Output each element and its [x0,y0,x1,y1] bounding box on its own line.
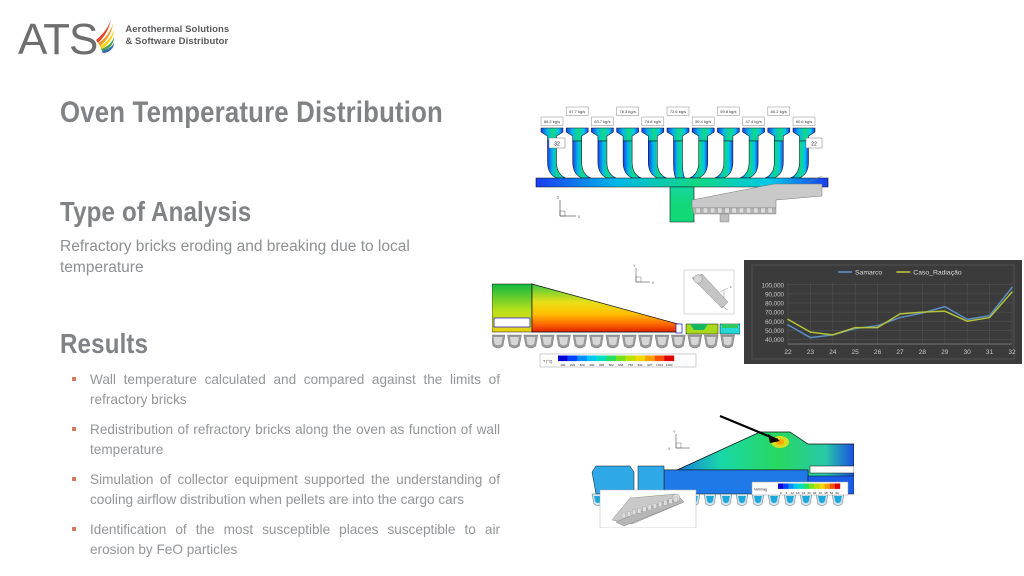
legend-swatch [664,356,674,362]
axis-corner [636,277,641,282]
nozzle [642,128,664,141]
list-item-text: Simulation of collector equipment suppor… [90,472,500,507]
cad-hopper [746,208,750,213]
section-results: Results Wall temperature calculated and … [60,328,480,559]
legend-swatch [830,484,835,489]
list-item-text: Redistribution of refractory bricks alon… [90,422,500,457]
legend-label: Samarco [855,269,882,276]
kiln-body-fill [532,284,678,332]
legend-label: Caso_Radiação [913,269,962,276]
cad-hopper [632,510,635,515]
duct-inner-wall [810,466,854,473]
axis-triad: YX [633,264,655,285]
cargo-car-inner [641,337,650,345]
flow-label-text: 66.2 kg/s [544,119,560,124]
branch-pipe [598,141,616,178]
cargo-car-row [492,335,735,348]
logo-tagline: Aerothermal Solutions & Software Distrib… [125,24,229,48]
cargo-car-inner [707,337,716,345]
cad-hopper [696,208,700,213]
branch-pipe [740,141,758,178]
legend-swatch [606,356,616,362]
list-item: Redistribution of refractory bricks alon… [60,420,500,459]
legend-tick: 24 [802,491,806,495]
cargo-car-inner [526,337,535,345]
x-tick-label: 32 [1008,349,1016,356]
legend-swatch [809,484,814,489]
cad-hopper [627,511,630,516]
cad-hopper [710,208,714,213]
cargo-car-inner [608,337,617,345]
legend-swatch [655,356,665,362]
cargo-car-inner [559,337,568,345]
chart-y-axis-labels: 100,00090,00080,00070,00060,00050,00040,… [762,282,785,344]
legend-tick: 495 [599,363,604,367]
nozzle [768,128,790,141]
nozzle [667,128,689,141]
list-item: Simulation of collector equipment suppor… [60,470,500,509]
flow-label-text: 59.4 kg/s [695,119,711,124]
cad-hopper [674,497,677,502]
y-tick-label: 80,000 [765,301,784,308]
nozzle [617,128,639,141]
branch-pipe [765,141,783,178]
flow-label-text: 67.7 kg/s [569,109,585,114]
x-tick-label: 27 [896,349,904,356]
nozzle [591,128,613,141]
flow-label-text: 63.7 kg/s [594,119,610,124]
analysis-text: Refractory bricks eroding and breaking d… [60,236,460,278]
branch-pipe [674,141,685,178]
cad-hopper [732,208,736,213]
cargo-car-inner [674,337,683,345]
flow-label-text: 59.8 kg/s [720,109,736,114]
legend-tick: 0 [780,491,782,495]
kiln-geometry: T [°C]1002003204004955626687508419271014… [492,264,740,367]
cad-hopper [739,208,743,213]
axis-z-label: z [557,195,559,200]
legend-swatch [799,484,804,489]
legend-label: Vel/mag [754,488,767,492]
legend-swatch [558,356,568,362]
legend-swatch [804,484,809,489]
legend-swatch [626,356,636,362]
duct-geometry: YXVel/mag06121824303642485460 [592,416,854,528]
axis-corner [676,443,681,448]
results-heading: Results [60,328,421,360]
y-tick-label: 50,000 [765,328,784,335]
legend-swatch [788,484,793,489]
legend-swatch [819,484,824,489]
cargo-car-inner [690,337,699,345]
cad-hopper [658,502,661,507]
legend-tick: 6 [786,491,788,495]
x-tick-label: 22 [784,349,792,356]
cargo-car-inner [576,337,585,345]
legend-tick: 562 [609,363,614,367]
legend-tick: 841 [638,363,643,367]
cargo-car-inner [592,337,601,345]
legend-tick: 48 [824,491,828,495]
x-tick-label: 24 [829,349,837,356]
legend-tick: 668 [618,363,623,367]
cad-hopper [638,508,641,513]
x-tick-label: 23 [807,349,815,356]
legend-swatch [616,356,626,362]
legend-tick: 1100 [666,363,673,367]
logo-mark: ATS [18,10,115,62]
bullet-marker-icon [72,427,76,431]
legend-tick: 200 [570,363,575,367]
analysis-heading: Type of Analysis [60,196,421,228]
figure-line-chart: 100,00090,00080,00070,00060,00050,00040,… [744,260,1022,364]
logo-wordmark: ATS [18,18,97,62]
page-title: Oven Temperature Distribution [60,96,421,130]
legend-tick: 54 [830,491,834,495]
x-tick-label: 30 [964,349,972,356]
flow-label-text: 74.8 kg/s [645,119,661,124]
cad-hopper [754,208,758,213]
legend-swatch [794,484,799,489]
cad-stand [720,214,729,222]
inner-duct [494,318,530,327]
flow-label-text: 72.6 kg/s [670,109,686,114]
flow-label-text: 76.3 kg/s [619,109,635,114]
nozzle [692,128,714,141]
cad-hopper [653,503,656,508]
cad-body [692,184,822,208]
logo-tagline-line1: Aerothermal Solutions [125,24,229,36]
cad-hopper [669,499,672,504]
x-tick-label: 28 [919,349,927,356]
x-tick-label: 26 [874,349,882,356]
cad-inset: k [684,270,734,314]
logo-tagline-line2: & Software Distributor [125,36,229,48]
nozzle [743,128,765,141]
flame-swoosh-icon [93,10,115,54]
flow-label-text: 60.6 kg/s [796,119,812,124]
kiln-legend: T [°C]1002003204004955626687508419271014… [540,354,696,367]
list-item: Identification of the most susceptible p… [60,520,500,559]
figure-kiln-temperature: T [°C]1002003204004955626687508419271014… [492,258,740,370]
axis-y-label: Y [673,430,676,434]
legend-swatch [778,484,783,489]
legend-swatch [568,356,578,362]
x-tick-label: 25 [852,349,860,356]
legend-tick: 320 [580,363,585,367]
content-column: Oven Temperature Distribution Type of An… [60,96,480,575]
cargo-car-inner [658,337,667,345]
legend-swatch [635,356,645,362]
cad-hopper [622,513,625,518]
cad-hopper [643,507,646,512]
axis-triad: YX [668,430,690,451]
y-tick-label: 60,000 [765,319,784,326]
cad-hopper [768,208,772,213]
x-tick-label: 31 [986,349,994,356]
legend-swatch [814,484,819,489]
legend-tick: 18 [796,491,800,495]
nozzle [566,128,588,141]
node-id-text: 22 [811,142,817,148]
branch-pipe [623,141,641,178]
x-tick-label: 29 [941,349,949,356]
cad-hopper [664,500,667,505]
main-trunk [670,187,694,222]
legend-label: T [°C] [543,360,552,364]
cad-hopper [703,208,707,213]
legend-tick: 42 [819,491,823,495]
axis-corner [560,211,565,216]
y-tick-label: 70,000 [765,310,784,317]
cargo-car-inner [625,337,634,345]
cad-hopper [725,208,729,213]
y-tick-label: 100,000 [762,282,785,289]
legend-swatch [577,356,587,362]
cad-hopper [761,208,765,213]
list-item-text: Wall temperature calculated and compared… [90,372,500,407]
cad-head [694,275,702,283]
exit-core-2 [722,324,738,328]
legend-tick: 750 [628,363,633,367]
legend-tick: 30 [807,491,811,495]
branch-pipe [690,141,708,178]
legend-tick: 1014 [656,363,663,367]
cargo-car-inner [723,337,732,345]
branch-pipe [715,141,733,178]
duct-legend: Vel/mag06121824303642485460 [752,482,848,495]
legend-tick: 12 [790,491,794,495]
legend-tick: 927 [647,363,652,367]
legend-swatch [835,484,840,489]
cad-inset [600,490,696,528]
axis-y-label: Y [633,264,636,268]
slide-root: ATS Aerothermal Solutions & Software Dis… [0,0,1024,576]
chart-root: 100,00090,00080,00070,00060,00050,00040,… [744,260,1022,364]
cargo-car-inner [543,337,552,345]
cargo-car-inner [494,337,503,345]
legend-swatch [783,484,788,489]
legend-tick: 100 [560,363,565,367]
cargo-car-inner [510,337,519,345]
bullet-marker-icon [72,377,76,381]
axis-x-label: x [578,214,581,219]
legend-swatch [645,356,655,362]
cad-hopper [718,208,722,213]
legend-swatch [825,484,830,489]
bullet-marker-icon [72,477,76,481]
outlet-duct [676,324,682,333]
legend-tick: 400 [589,363,594,367]
axis-x-label: X [668,447,671,451]
ats-logo: ATS Aerothermal Solutions & Software Dis… [18,10,229,62]
y-tick-label: 90,000 [765,291,784,298]
manifold-geometry: 66.2 kg/s67.7 kg/s63.7 kg/s76.3 kg/s74.8… [536,107,828,222]
axis-x-label: X [652,281,655,285]
flow-label-text: 47.4 kg/s [745,119,761,124]
legend-tick: 36 [813,491,817,495]
figure-duct-velocity: YXVel/mag06121824303642485460 [572,410,854,528]
flow-label-text: 60.2 kg/s [771,109,787,114]
y-tick-label: 40,000 [765,337,784,344]
legend-swatch [597,356,607,362]
cad-hopper [648,505,651,510]
axis-triad: zx [557,195,581,219]
bullet-marker-icon [72,527,76,531]
list-item-text: Identification of the most susceptible p… [90,522,500,557]
results-bullet-list: Wall temperature calculated and compared… [60,370,480,559]
nozzle [717,128,739,141]
legend-swatch [587,356,597,362]
list-item: Wall temperature calculated and compared… [60,370,500,409]
node-id-text: 32 [554,142,560,148]
legend-tick: 60 [835,491,839,495]
branch-pipe [648,141,666,178]
section-type-of-analysis: Type of Analysis Refractory bricks erodi… [60,196,480,278]
figure-cfd-manifold: 66.2 kg/s67.7 kg/s63.7 kg/s76.3 kg/s74.8… [524,104,840,226]
branch-pipe [573,141,591,178]
